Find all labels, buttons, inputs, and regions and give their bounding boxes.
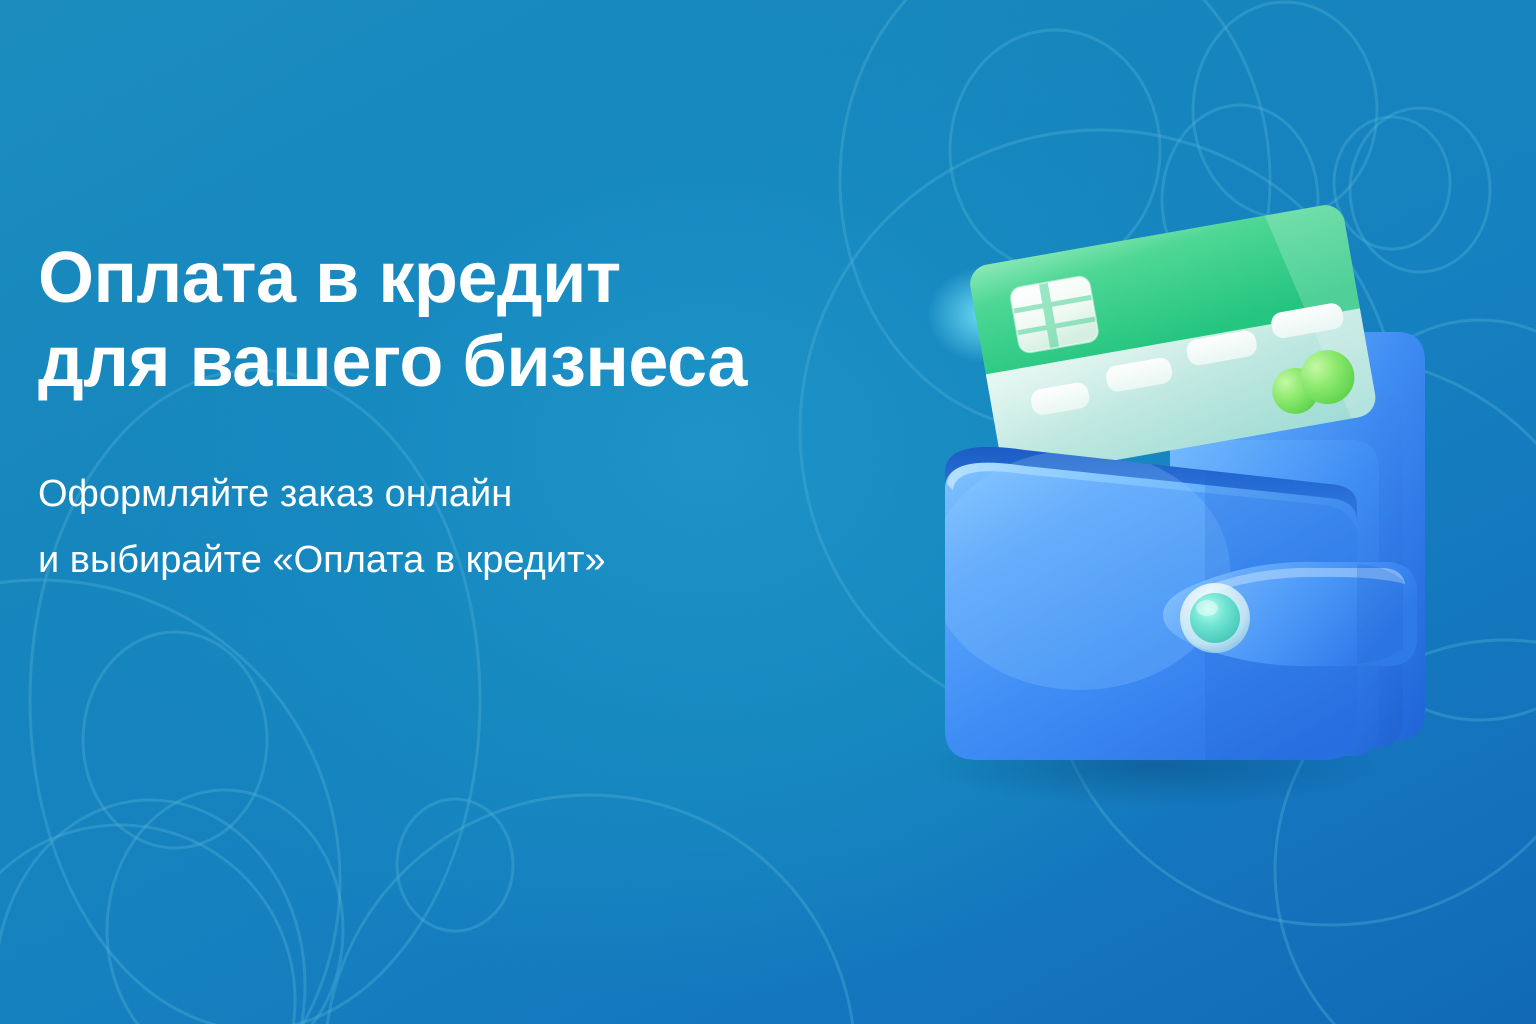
wallet-illustration (905, 240, 1485, 800)
wallet-clasp-button[interactable] (1180, 583, 1250, 653)
bg-circle-12 (0, 580, 340, 1024)
headline: Оплата в кредит для вашего бизнеса (38, 236, 747, 404)
promo-banner: Оплата в кредит для вашего бизнеса Оформ… (0, 0, 1536, 1024)
bg-ellipse-8 (1334, 117, 1450, 249)
bg-ellipse-13 (107, 790, 343, 1024)
wallet-strap-shade (1357, 564, 1403, 664)
wallet-front-sheen (930, 450, 1230, 690)
bg-ellipse-15 (397, 799, 513, 931)
clasp-specular (1196, 600, 1218, 616)
bg-circle-16 (325, 795, 855, 1024)
bg-ellipse-1 (1193, 2, 1377, 218)
headline-line-2: для вашего бизнеса (38, 322, 747, 402)
copy-block: Оплата в кредит для вашего бизнеса Оформ… (38, 236, 747, 593)
bg-ellipse-11 (83, 632, 267, 848)
bg-circle-18 (0, 825, 295, 1024)
bg-ellipse-5 (950, 30, 1160, 270)
subheadline-line-1: Оформляйте заказ онлайн (38, 473, 512, 515)
bg-ellipse-14 (0, 800, 305, 1024)
subheadline-line-2: и выбирайте «Оплата в кредит» (38, 539, 606, 581)
headline-line-1: Оплата в кредит (38, 238, 621, 318)
clasp-inner-dot (1190, 593, 1240, 643)
subheadline: Оформляйте заказ онлайн и выбирайте «Опл… (38, 462, 747, 593)
